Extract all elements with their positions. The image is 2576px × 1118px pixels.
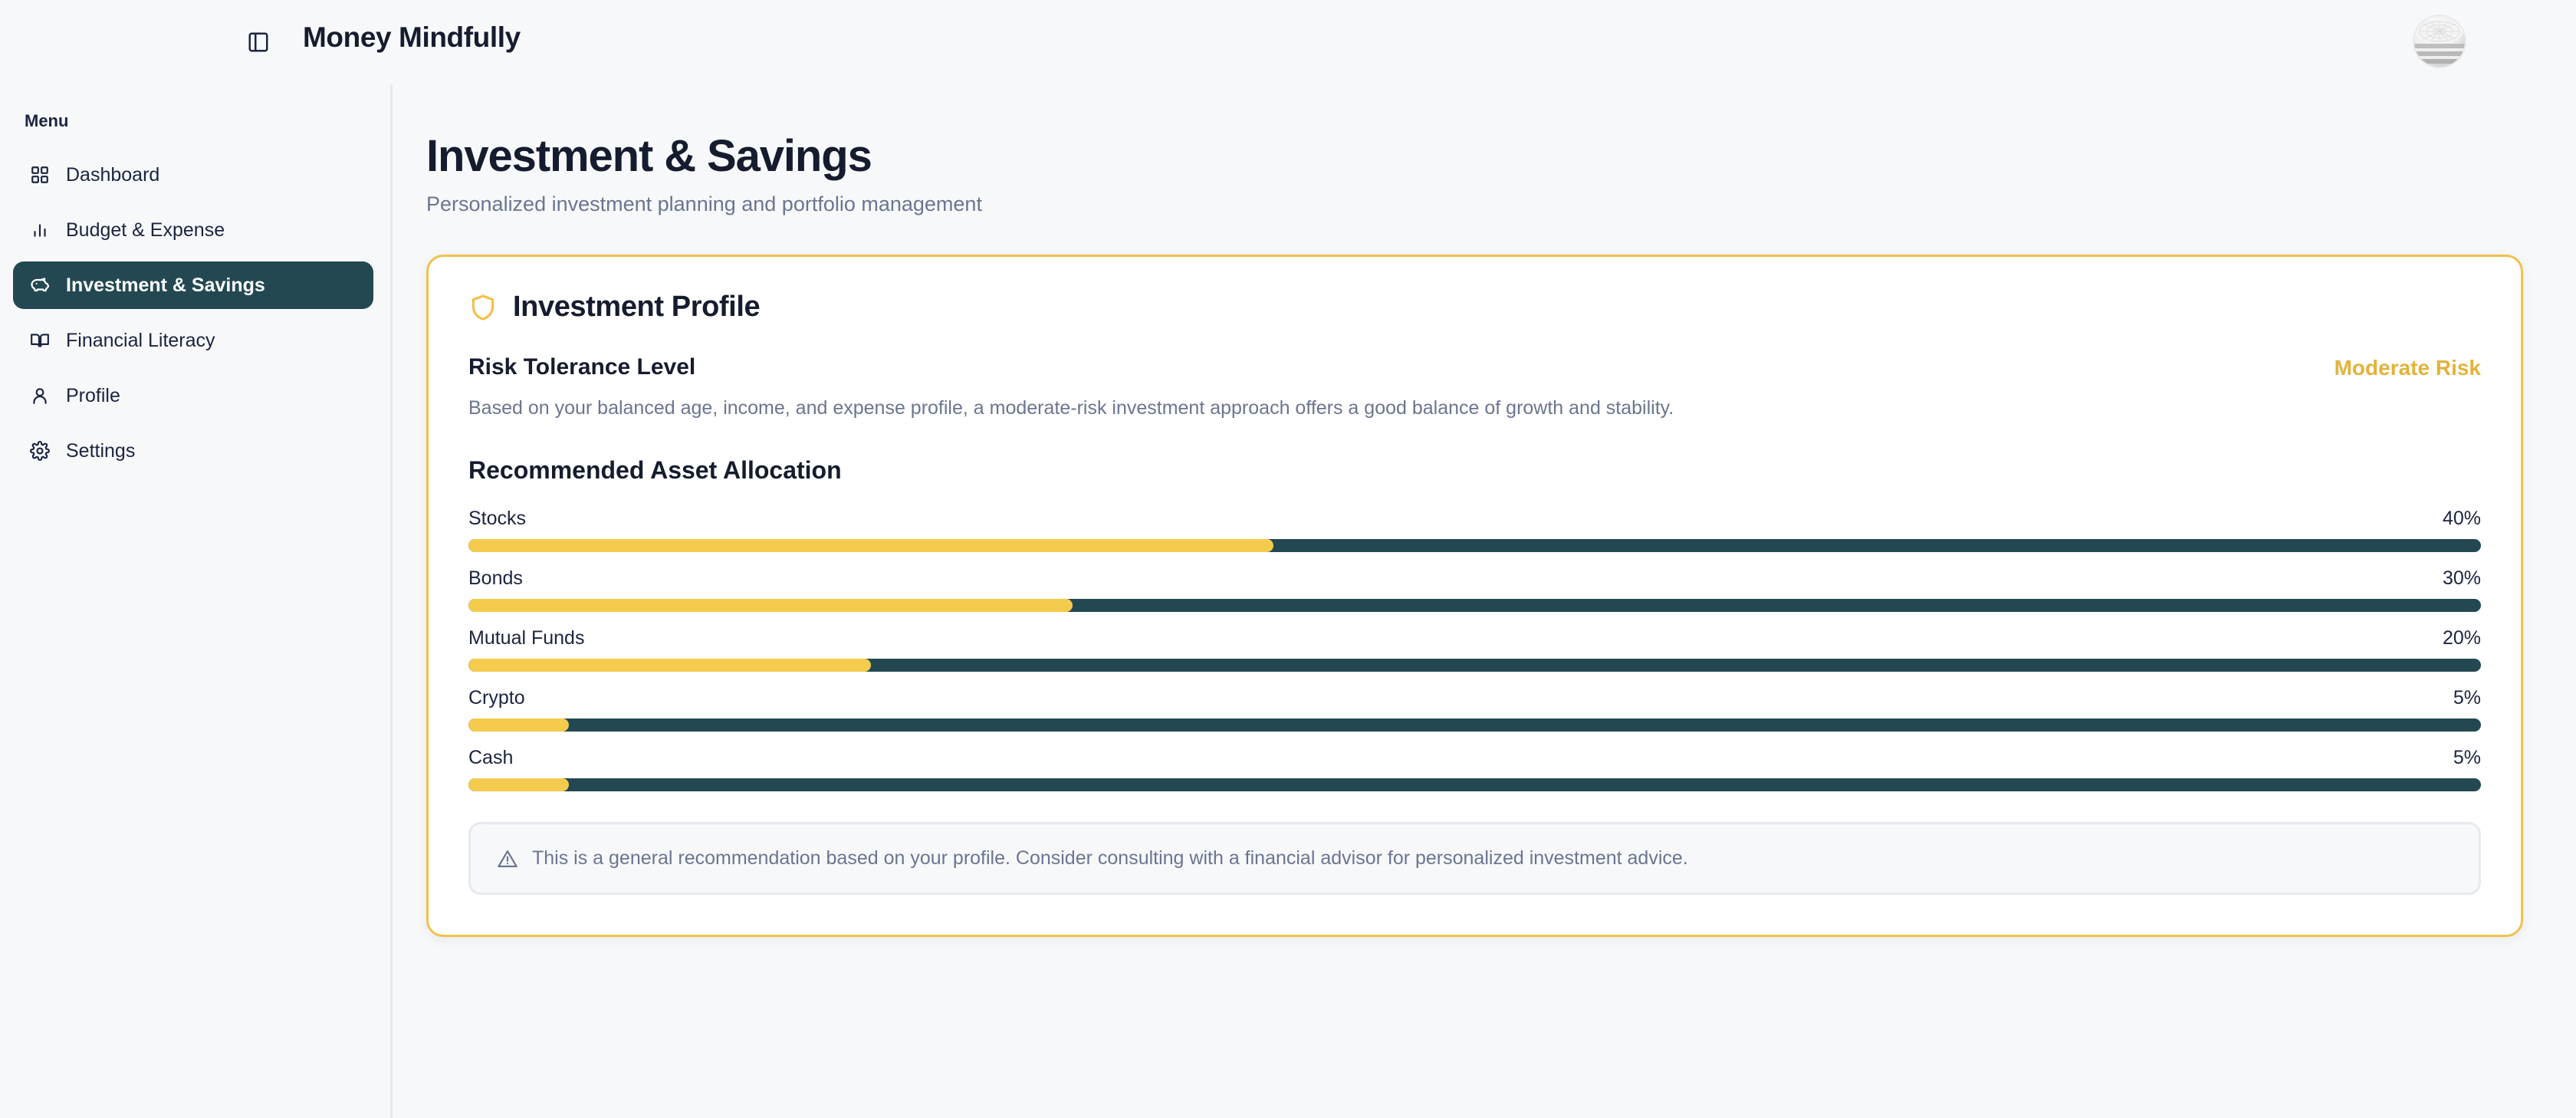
disclaimer-box: This is a general recommendation based o… xyxy=(468,822,2481,895)
allocation-value: 30% xyxy=(2443,567,2481,590)
sidebar-item-label: Financial Literacy xyxy=(66,330,215,352)
top-bar: Money Mindfully xyxy=(0,0,2576,84)
progress-bar-fill xyxy=(468,659,871,672)
progress-bar-track xyxy=(468,659,2481,672)
app-title: Money Mindfully xyxy=(303,21,521,54)
piggy-bank-icon xyxy=(27,272,53,298)
risk-tolerance-description: Based on your balanced age, income, and … xyxy=(468,397,2481,419)
progress-bar-fill xyxy=(468,599,1073,612)
avatar[interactable] xyxy=(2413,15,2466,68)
sidebar-item-profile[interactable]: Profile xyxy=(13,372,373,419)
shield-icon xyxy=(468,292,498,323)
status-badge: Moderate Risk xyxy=(2334,354,2481,380)
allocation-value: 5% xyxy=(2453,687,2481,709)
allocation-row: Crypto 5% xyxy=(468,687,2481,732)
sidebar: Menu Dashboard Budget & Expense xyxy=(0,84,393,1118)
sidebar-item-dashboard[interactable]: Dashboard xyxy=(13,151,373,199)
progress-bar-track xyxy=(468,778,2481,791)
sidebar-item-label: Budget & Expense xyxy=(66,219,225,242)
allocation-label: Crypto xyxy=(468,687,525,709)
main-content: Investment & Savings Personalized invest… xyxy=(395,84,2576,1118)
progress-bar-track xyxy=(468,539,2481,552)
gear-icon xyxy=(27,438,53,464)
progress-bar-track xyxy=(468,718,2481,732)
allocation-label: Stocks xyxy=(468,508,526,530)
progress-bar-fill xyxy=(468,778,569,791)
card-header: Investment Profile xyxy=(468,291,2481,324)
allocation-label: Cash xyxy=(468,747,513,769)
sidebar-toggle-icon[interactable] xyxy=(244,28,273,57)
allocation-value: 5% xyxy=(2453,747,2481,769)
progress-bar-fill xyxy=(468,718,569,732)
grid-icon xyxy=(27,162,53,188)
allocation-row: Mutual Funds 20% xyxy=(468,627,2481,672)
book-open-icon xyxy=(27,327,53,353)
sidebar-menu-label: Menu xyxy=(25,111,390,131)
sidebar-item-investment-savings[interactable]: Investment & Savings xyxy=(13,261,373,309)
sidebar-item-financial-literacy[interactable]: Financial Literacy xyxy=(13,317,373,364)
bar-chart-icon xyxy=(27,217,53,243)
allocation-bar-list: Stocks 40% Bonds 30% Mutual Funds xyxy=(468,508,2481,791)
allocation-title: Recommended Asset Allocation xyxy=(468,456,2481,485)
risk-tolerance-row: Risk Tolerance Level Moderate Risk xyxy=(468,354,2481,380)
allocation-value: 20% xyxy=(2443,627,2481,649)
sidebar-item-label: Profile xyxy=(66,385,120,407)
allocation-value: 40% xyxy=(2443,508,2481,530)
user-icon xyxy=(27,383,53,409)
progress-bar-track xyxy=(468,599,2481,612)
page-title: Investment & Savings xyxy=(426,130,2522,182)
risk-tolerance-label: Risk Tolerance Level xyxy=(468,354,695,380)
sidebar-item-settings[interactable]: Settings xyxy=(13,427,373,475)
sidebar-item-label: Investment & Savings xyxy=(66,275,265,297)
allocation-row: Stocks 40% xyxy=(468,508,2481,552)
allocation-label: Bonds xyxy=(468,567,523,590)
progress-bar-fill xyxy=(468,539,1273,552)
allocation-row: Cash 5% xyxy=(468,747,2481,791)
sidebar-item-label: Settings xyxy=(66,440,135,462)
card-title: Investment Profile xyxy=(513,291,760,324)
sidebar-item-budget-expense[interactable]: Budget & Expense xyxy=(13,206,373,254)
disclaimer-text: This is a general recommendation based o… xyxy=(532,847,1688,870)
investment-profile-card: Investment Profile Risk Tolerance Level … xyxy=(426,255,2523,937)
sidebar-item-label: Dashboard xyxy=(66,164,159,186)
allocation-row: Bonds 30% xyxy=(468,567,2481,612)
allocation-label: Mutual Funds xyxy=(468,627,584,649)
warning-triangle-icon xyxy=(497,848,518,870)
page-subtitle: Personalized investment planning and por… xyxy=(426,192,2522,216)
